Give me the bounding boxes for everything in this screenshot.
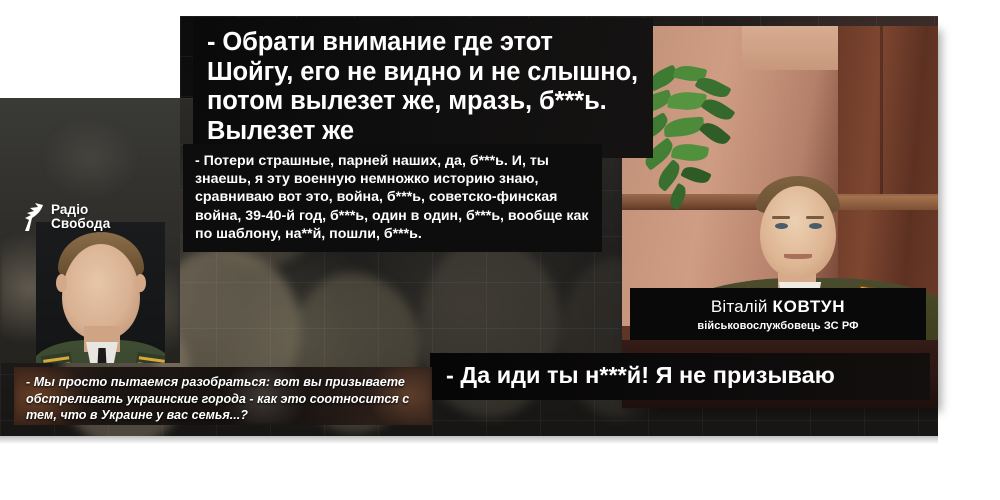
face — [760, 186, 836, 278]
collage-bottom-shadow — [0, 436, 938, 444]
radio-svoboda-logo: Радіо Свобода — [22, 202, 110, 232]
collage-canvas: Радіо Свобода — [0, 0, 1000, 500]
quote-block-shoigu: - Обрати внимание где этот Шойгу, его не… — [193, 18, 653, 158]
first-name-right: Віталій — [711, 297, 768, 316]
eyebrow-right — [806, 216, 824, 219]
ear-left — [56, 274, 67, 292]
logo-line-2: Свобода — [51, 217, 110, 231]
eye-left — [775, 223, 788, 229]
quote-block-question: - Мы просто пытаемся разобраться: вот вы… — [14, 367, 432, 425]
radio-svoboda-wordmark: Радіо Свобода — [51, 203, 110, 231]
name-block-right: Віталій КОВТУН військовослужбовець ЗС РФ — [630, 288, 926, 340]
quote-block-question-wrapper: - Мы просто пытаемся разобраться: вот вы… — [14, 367, 432, 425]
eye-right — [809, 223, 822, 229]
eyebrow-left — [772, 216, 790, 219]
mouth — [784, 254, 812, 259]
full-name-right: Віталій КОВТУН — [711, 297, 845, 317]
person-card-left: Радіо Свобода — [0, 98, 180, 363]
portrait-vlasov — [36, 222, 165, 363]
person-card-right: Віталій КОВТУН військовослужбовець ЗС РФ — [622, 26, 938, 408]
last-name-right: КОВТУН — [773, 297, 846, 316]
radio-svoboda-bird-icon — [22, 202, 44, 232]
wall-panel — [742, 26, 842, 70]
wood-seam — [880, 26, 883, 196]
quote-block-reply: - Да иди ты н***й! Я не призываю — [430, 353, 930, 400]
ear-right — [135, 274, 146, 292]
logo-line-1: Радіо — [51, 203, 110, 217]
role-right: військовослужбовець ЗС РФ — [697, 320, 858, 332]
quote-block-losses: - Потери страшные, парней наших, да, б**… — [183, 144, 602, 252]
